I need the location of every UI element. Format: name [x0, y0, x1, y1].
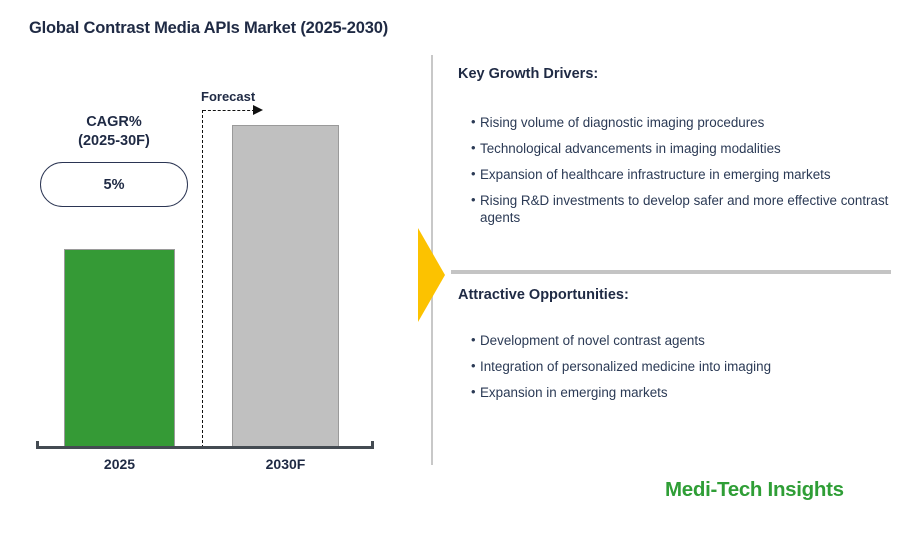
x-axis-tick-left [36, 441, 39, 449]
list-item-label: Rising R&D investments to develop safer … [480, 192, 898, 227]
brand-logo: Medi-Tech Insights [665, 478, 844, 502]
bullet-icon: • [458, 166, 480, 183]
bullet-icon: • [458, 332, 480, 349]
list-item: • Technological advancements in imaging … [458, 140, 898, 157]
list-item: • Development of novel contrast agents [458, 332, 898, 349]
bullet-icon: • [458, 384, 480, 401]
opportunities-heading: Attractive Opportunities: [458, 287, 629, 303]
opportunities-list: • Development of novel contrast agents •… [458, 332, 898, 410]
bullet-icon: • [458, 192, 480, 209]
x-axis-tick-right [371, 441, 374, 449]
list-item: • Rising R&D investments to develop safe… [458, 192, 898, 227]
yellow-arrow-icon [418, 228, 445, 322]
x-axis-label-2030f: 2030F [232, 456, 339, 472]
bullet-icon: • [458, 140, 480, 157]
cagr-period: (2025-30F) [34, 132, 194, 151]
insights-panel: Key Growth Drivers: • Rising volume of d… [450, 0, 907, 546]
section-divider [451, 270, 891, 274]
bar-chart-panel: CAGR% (2025-30F) 5% Forecast 2025 2030F [0, 0, 420, 546]
list-item-label: Expansion in emerging markets [480, 384, 898, 401]
bar-2025 [64, 249, 175, 447]
bullet-icon: • [458, 114, 480, 131]
list-item: • Expansion in emerging markets [458, 384, 898, 401]
infographic-canvas: Global Contrast Media APIs Market (2025-… [0, 0, 907, 546]
forecast-dashed-arrow [203, 110, 255, 111]
bullet-icon: • [458, 358, 480, 375]
forecast-arrowhead-icon [253, 105, 263, 115]
cagr-title: CAGR% [34, 113, 194, 132]
bar-2030f [232, 125, 339, 447]
list-item: • Rising volume of diagnostic imaging pr… [458, 114, 898, 131]
list-item-label: Technological advancements in imaging mo… [480, 140, 898, 157]
cagr-value-pill: 5% [40, 162, 188, 207]
list-item: • Expansion of healthcare infrastructure… [458, 166, 898, 183]
forecast-divider-dashed-line [202, 110, 203, 448]
list-item-label: Development of novel contrast agents [480, 332, 898, 349]
growth-drivers-list: • Rising volume of diagnostic imaging pr… [458, 114, 898, 235]
cagr-label-block: CAGR% (2025-30F) [34, 113, 194, 150]
list-item-label: Rising volume of diagnostic imaging proc… [480, 114, 898, 131]
list-item: • Integration of personalized medicine i… [458, 358, 898, 375]
x-axis-line [36, 446, 373, 449]
x-axis-label-2025: 2025 [64, 456, 175, 472]
growth-drivers-heading: Key Growth Drivers: [458, 66, 598, 82]
forecast-label: Forecast [201, 89, 255, 104]
list-item-label: Expansion of healthcare infrastructure i… [480, 166, 898, 183]
list-item-label: Integration of personalized medicine int… [480, 358, 898, 375]
cagr-value: 5% [104, 177, 125, 193]
